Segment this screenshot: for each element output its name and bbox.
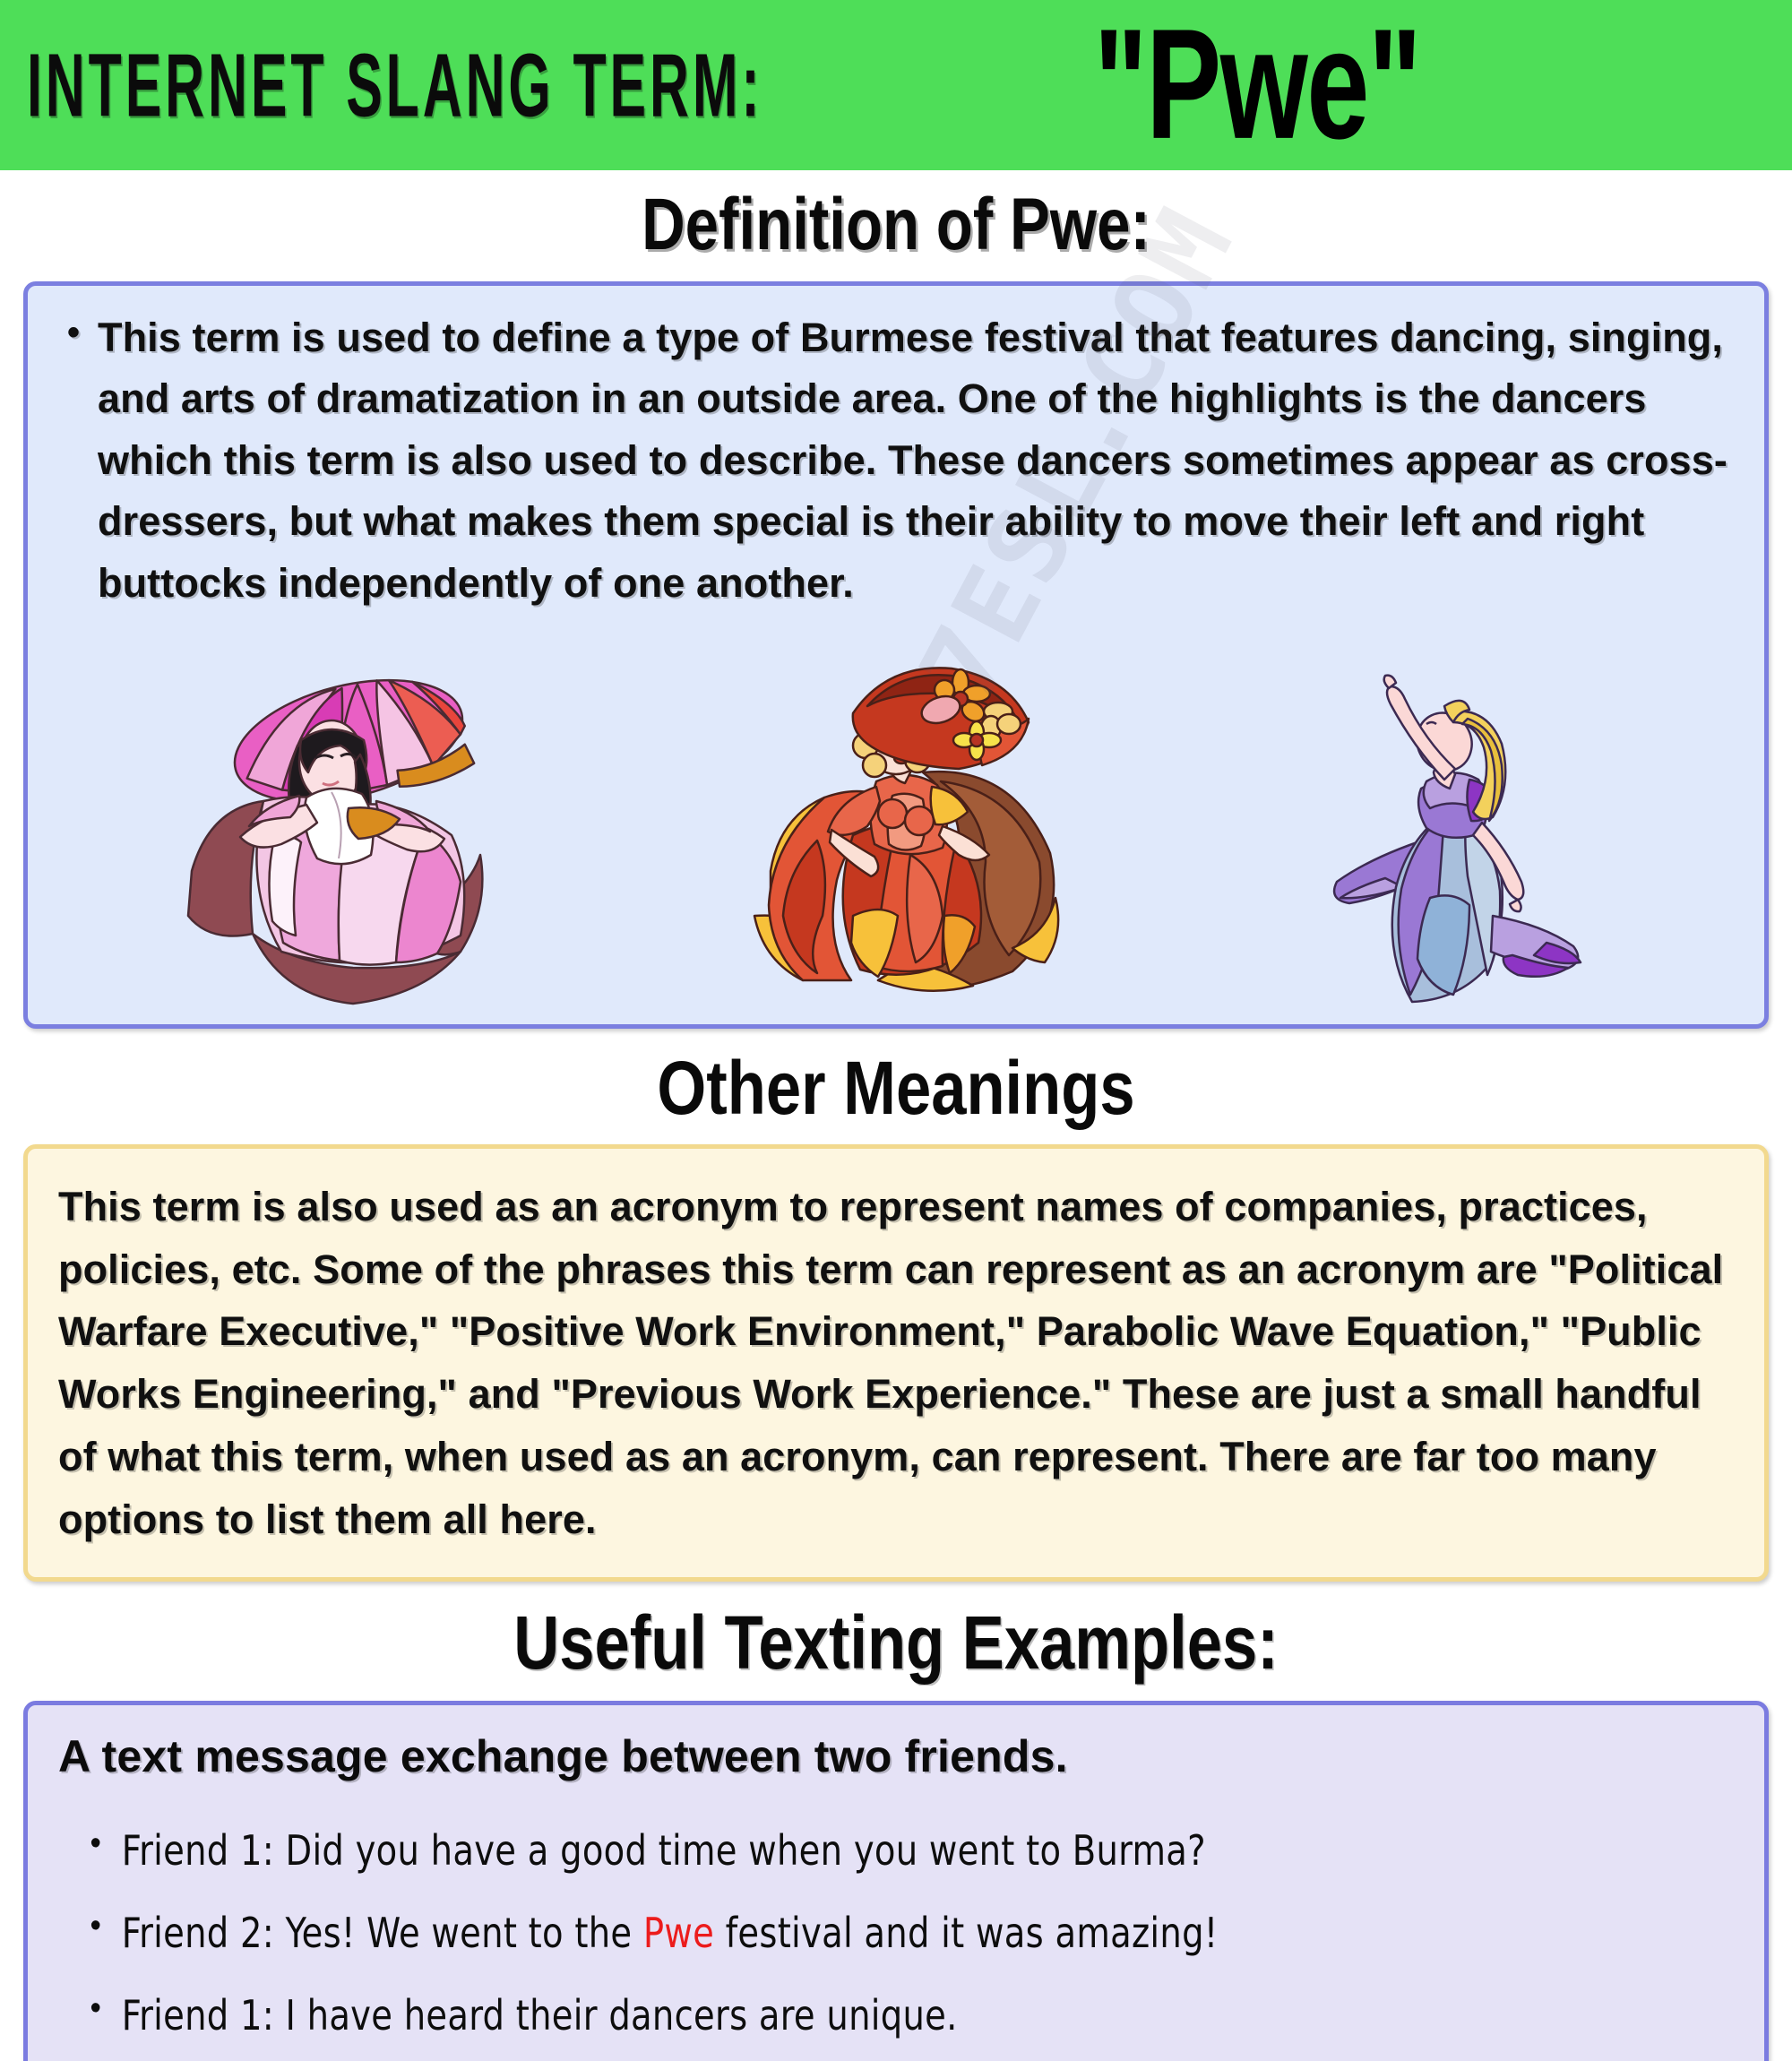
message-text: Friend 2: Yes! We went to the	[122, 1909, 643, 1957]
examples-intro: A text message exchange between two frie…	[58, 1730, 1734, 1782]
list-item: Friend 2: Yes, they are! Everything was …	[83, 2057, 1618, 2061]
definition-bullet-list: This term is used to define a type of Bu…	[55, 307, 1737, 614]
list-item: Friend 1: I have heard their dancers are…	[83, 1974, 1618, 2057]
examples-heading: Useful Texting Examples:	[143, 1582, 1649, 1701]
header-label: INTERNET SLANG TERM:	[27, 33, 763, 137]
highlighted-term: Pwe	[643, 1909, 714, 1957]
definition-box: This term is used to define a type of Bu…	[23, 281, 1769, 1029]
header-banner: INTERNET SLANG TERM: "Pwe"	[0, 0, 1792, 170]
definition-heading: Definition of Pwe:	[161, 170, 1631, 281]
dancer-pink-parasol-icon	[156, 647, 514, 1005]
dancer-pink-parasol	[156, 647, 514, 1010]
other-meanings-heading: Other Meanings	[143, 1029, 1649, 1144]
infographic-page: INTERNET SLANG TERM: "Pwe" Definition of…	[0, 0, 1792, 2061]
dancer-red-flower-hat	[717, 647, 1075, 1010]
header-term: "Pwe"	[1094, 11, 1420, 160]
message-text-tail: festival and it was amazing!	[714, 1909, 1218, 1957]
dancer-purple-gown	[1278, 647, 1636, 1010]
examples-box: A text message exchange between two frie…	[23, 1701, 1769, 2061]
list-item: Friend 2: Yes! We went to the Pwe festiv…	[83, 1892, 1618, 1974]
dancer-purple-gown-icon	[1278, 647, 1636, 1005]
definition-bullet: This term is used to define a type of Bu…	[55, 307, 1737, 614]
other-meanings-text: This term is also used as an acronym to …	[58, 1176, 1734, 1551]
message-text: Friend 1: Did you have a good time when …	[122, 1826, 1206, 1875]
dancer-red-flower-hat-icon	[717, 647, 1075, 1005]
example-message-list: Friend 1: Did you have a good time when …	[83, 1809, 1734, 2061]
other-meanings-box: This term is also used as an acronym to …	[23, 1144, 1769, 1582]
message-text: Friend 1: I have heard their dancers are…	[122, 1991, 958, 2039]
dancer-illustrations	[55, 625, 1737, 1010]
list-item: Friend 1: Did you have a good time when …	[83, 1809, 1618, 1892]
